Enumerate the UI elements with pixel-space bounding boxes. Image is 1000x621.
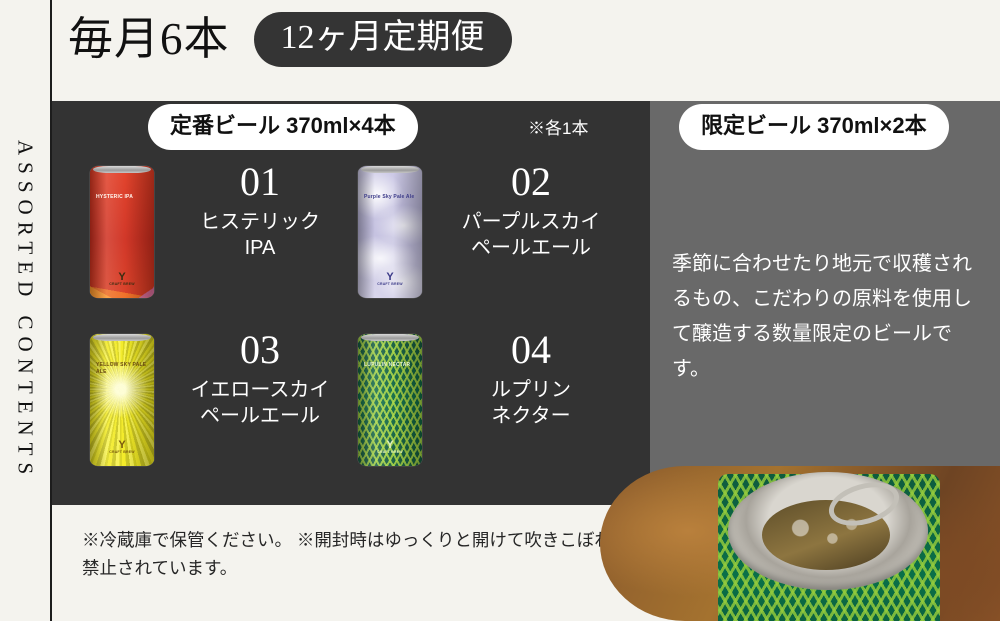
can-label-02: Purple Sky Pale Ale: [364, 194, 414, 201]
can-label-04: LUPULIN NECTAR: [364, 362, 410, 369]
brand-logo-icon-03: YCRAFT BREW: [109, 440, 135, 455]
standard-beer-heading: 定番ビール 370ml×4本: [148, 104, 418, 150]
limited-beer-heading: 限定ビール 370ml×2本: [679, 104, 949, 150]
beer-info-01: 01 ヒステリック IPA: [168, 160, 352, 262]
beer-name-04: ルプリン ネクター: [436, 377, 626, 430]
beer-can-04: LUPULIN NECTAR YCRAFT BREW: [358, 334, 422, 466]
can-wrapper-01: HYSTERIC IPA YCRAFT BREW: [90, 160, 160, 298]
assorted-contents-text: ASSORTED CONTENTS: [13, 140, 38, 481]
beer-name-01: ヒステリック IPA: [168, 209, 352, 262]
can-wrapper-04: LUPULIN NECTAR YCRAFT BREW: [358, 328, 428, 466]
assorted-contents-label: ASSORTED CONTENTS: [0, 0, 50, 621]
beer-number-01: 01: [168, 162, 352, 202]
beer-item-01: HYSTERIC IPA YCRAFT BREW 01 ヒステリック IPA: [90, 160, 358, 328]
page-title: 毎月6本: [68, 17, 230, 62]
beer-can-photo: [600, 466, 1000, 621]
beer-can-03: YELLOW SKY PALE ALE YCRAFT BREW: [90, 334, 154, 466]
beer-info-04: 04 ルプリン ネクター: [436, 328, 626, 430]
each-one-note: ※各1本: [528, 114, 588, 139]
beer-number-04: 04: [436, 330, 626, 370]
header: 毎月6本 12ヶ月定期便: [68, 12, 512, 67]
beer-number-02: 02: [436, 162, 626, 202]
beer-can-01: HYSTERIC IPA YCRAFT BREW: [90, 166, 154, 298]
beer-name-03: イエロースカイ ペールエール: [168, 377, 352, 430]
beer-info-02: 02 パープルスカイ ペールエール: [436, 160, 626, 262]
beer-number-03: 03: [168, 330, 352, 370]
beer-info-03: 03 イエロースカイ ペールエール: [168, 328, 352, 430]
subscription-badge: 12ヶ月定期便: [254, 12, 512, 67]
brand-logo-icon-01: YCRAFT BREW: [109, 272, 135, 287]
brand-logo-icon-04: YCRAFT BREW: [377, 440, 403, 455]
limited-beer-description: 季節に合わせたり地元で収穫されるもの、こだわりの原料を使用して醸造する数量限定の…: [672, 247, 982, 387]
beer-list: HYSTERIC IPA YCRAFT BREW 01 ヒステリック IPA P…: [52, 160, 650, 490]
beer-item-02: Purple Sky Pale Ale YCRAFT BREW 02 パープルス…: [358, 160, 626, 328]
can-wrapper-02: Purple Sky Pale Ale YCRAFT BREW: [358, 160, 428, 298]
beer-can-02: Purple Sky Pale Ale YCRAFT BREW: [358, 166, 422, 298]
promo-card: ASSORTED CONTENTS 毎月6本 12ヶ月定期便 定番ビール 370…: [0, 0, 1000, 621]
beer-item-03: YELLOW SKY PALE ALE YCRAFT BREW 03 イエロース…: [90, 328, 358, 490]
can-label-01: HYSTERIC IPA: [96, 194, 133, 201]
beer-name-02: パープルスカイ ペールエール: [436, 209, 626, 262]
can-wrapper-03: YELLOW SKY PALE ALE YCRAFT BREW: [90, 328, 160, 466]
can-label-03: YELLOW SKY PALE ALE: [96, 362, 154, 376]
beer-item-04: LUPULIN NECTAR YCRAFT BREW 04 ルプリン ネクター: [358, 328, 626, 490]
brand-logo-icon-02: YCRAFT BREW: [377, 272, 403, 287]
